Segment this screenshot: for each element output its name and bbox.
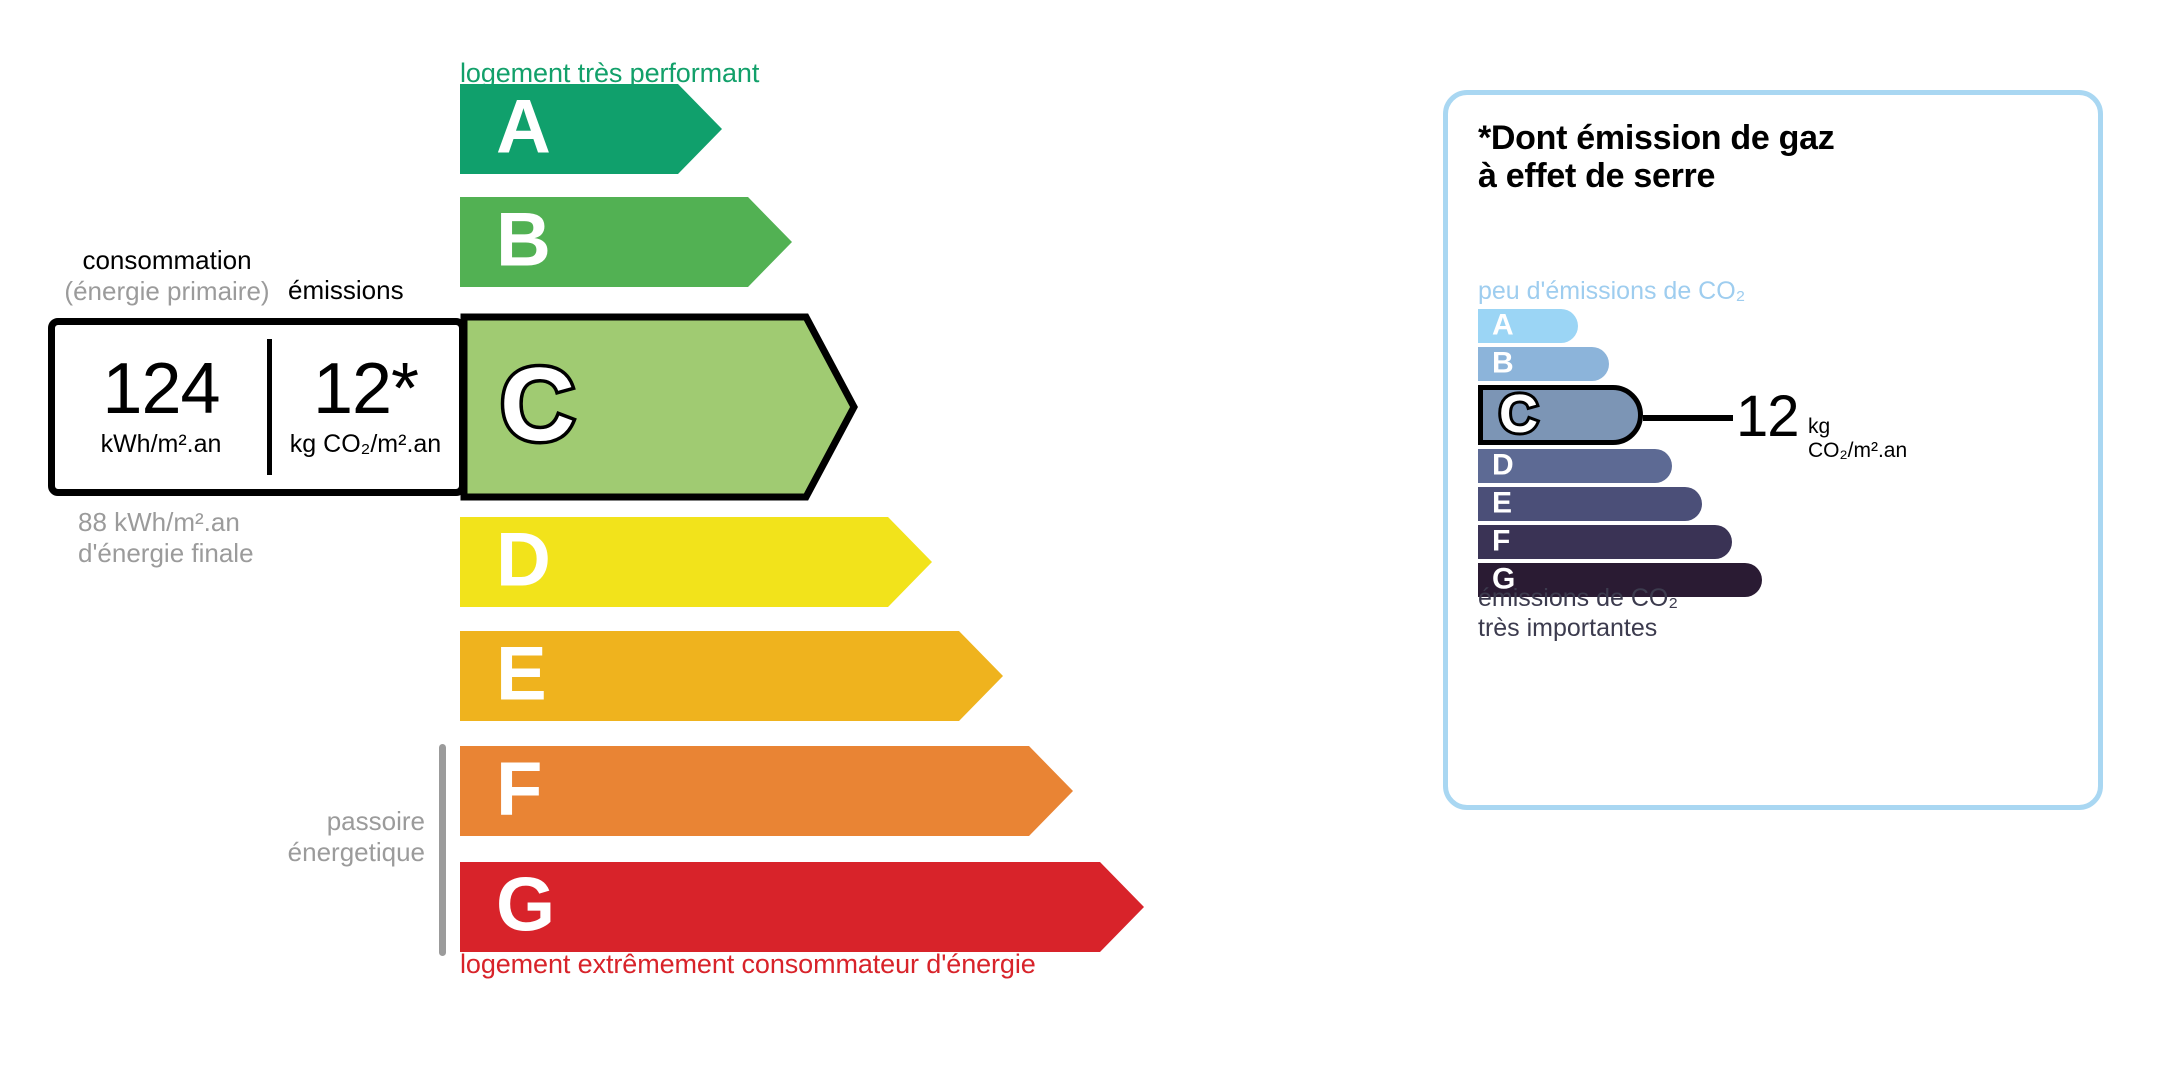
co2-title-line1: *Dont émission de gaz — [1478, 119, 1834, 157]
co2-row-c-selected[interactable]: C 12 kg CO₂/m².an — [1478, 385, 1762, 445]
energy-band-b[interactable]: B — [460, 197, 792, 287]
energy-performance-scale: logement très performant A B C — [0, 0, 1380, 1079]
co2-bar-b: B — [1478, 347, 1609, 381]
final-energy-line2: d'énergie finale — [78, 538, 254, 569]
passoire-bracket — [439, 744, 446, 956]
energy-band-a[interactable]: A — [460, 84, 722, 174]
co2-letter-f: F — [1492, 526, 1510, 556]
co2-value: 12 — [1736, 383, 1799, 450]
co2-bar-a: A — [1478, 309, 1578, 343]
energy-band-a-letter: A — [496, 89, 551, 165]
energy-band-c-selected[interactable]: C — [460, 313, 860, 501]
passoire-label-line2: énergetique — [250, 837, 425, 868]
co2-top-caption: peu d'émissions de CO₂ — [1478, 277, 1745, 306]
energy-band-a-shape: A — [460, 84, 722, 174]
co2-bar-list: A B C 12 kg CO₂/m².an D E — [1478, 309, 1762, 601]
energy-band-c-letter: C — [500, 353, 575, 457]
emissions-label: émissions — [288, 275, 404, 306]
energy-bottom-caption: logement extrêmement consommateur d'éner… — [460, 949, 1036, 980]
energy-band-d-shape: D — [460, 517, 932, 607]
co2-emissions-panel: *Dont émission de gaz à effet de serre p… — [1443, 90, 2103, 810]
energy-band-b-letter: B — [496, 202, 551, 278]
energy-band-g-shape: G — [460, 862, 1144, 952]
final-energy-line1: 88 kWh/m².an — [78, 507, 254, 538]
co2-leader-line — [1643, 415, 1733, 421]
energy-band-g[interactable]: G — [460, 862, 1144, 952]
final-energy-label: 88 kWh/m².an d'énergie finale — [78, 507, 254, 569]
band-arrow-g-icon — [460, 862, 1144, 952]
energy-band-g-letter: G — [496, 867, 555, 943]
consumption-label: consommation (énergie primaire) — [62, 245, 272, 306]
co2-letter-c: C — [1499, 387, 1538, 441]
co2-bottom-caption-line2: très importantes — [1478, 613, 1678, 643]
co2-bar-e: E — [1478, 487, 1702, 521]
co2-value-unit: kg CO₂/m².an — [1808, 415, 1907, 463]
energy-band-e[interactable]: E — [460, 631, 1003, 721]
emissions-value: 12* — [313, 355, 418, 423]
co2-row-b[interactable]: B — [1478, 347, 1762, 381]
co2-bottom-caption: émissions de CO₂ très importantes — [1478, 583, 1678, 643]
passoire-label-line1: passoire — [250, 806, 425, 837]
energy-band-b-shape: B — [460, 197, 792, 287]
co2-letter-a: A — [1492, 310, 1514, 340]
co2-bar-c: C — [1478, 385, 1643, 445]
energy-band-f-letter: F — [496, 751, 542, 827]
energy-band-c-shape: C — [460, 313, 860, 501]
passoire-label: passoire énergetique — [250, 806, 425, 868]
energy-band-d-letter: D — [496, 522, 551, 598]
band-arrow-f-icon — [460, 746, 1073, 836]
emissions-value-cell: 12* kg CO₂/m².an — [272, 325, 459, 489]
primary-energy-unit: kWh/m².an — [101, 430, 222, 459]
co2-letter-e: E — [1492, 488, 1512, 518]
consumption-label-line2: (énergie primaire) — [62, 276, 272, 307]
consumption-label-line1: consommation — [62, 245, 272, 276]
energy-value-box: 124 kWh/m².an 12* kg CO₂/m².an — [48, 318, 466, 496]
co2-bar-f: F — [1478, 525, 1732, 559]
co2-bar-d: D — [1478, 449, 1672, 483]
energy-band-e-shape: E — [460, 631, 1003, 721]
co2-row-f[interactable]: F — [1478, 525, 1762, 559]
energy-band-e-letter: E — [496, 636, 547, 712]
co2-panel-title: *Dont émission de gaz à effet de serre — [1478, 119, 1834, 195]
co2-letter-b: B — [1492, 348, 1514, 378]
energy-band-d[interactable]: D — [460, 517, 932, 607]
energy-band-f-shape: F — [460, 746, 1073, 836]
primary-energy-value-cell: 124 kWh/m².an — [55, 325, 267, 489]
co2-row-d[interactable]: D — [1478, 449, 1762, 483]
emissions-unit: kg CO₂/m².an — [290, 430, 441, 459]
primary-energy-value: 124 — [102, 355, 219, 423]
co2-bottom-caption-line1: émissions de CO₂ — [1478, 583, 1678, 613]
co2-row-e[interactable]: E — [1478, 487, 1762, 521]
co2-letter-d: D — [1492, 450, 1514, 480]
co2-row-a[interactable]: A — [1478, 309, 1762, 343]
co2-title-line2: à effet de serre — [1478, 157, 1834, 195]
energy-band-f[interactable]: F — [460, 746, 1073, 836]
